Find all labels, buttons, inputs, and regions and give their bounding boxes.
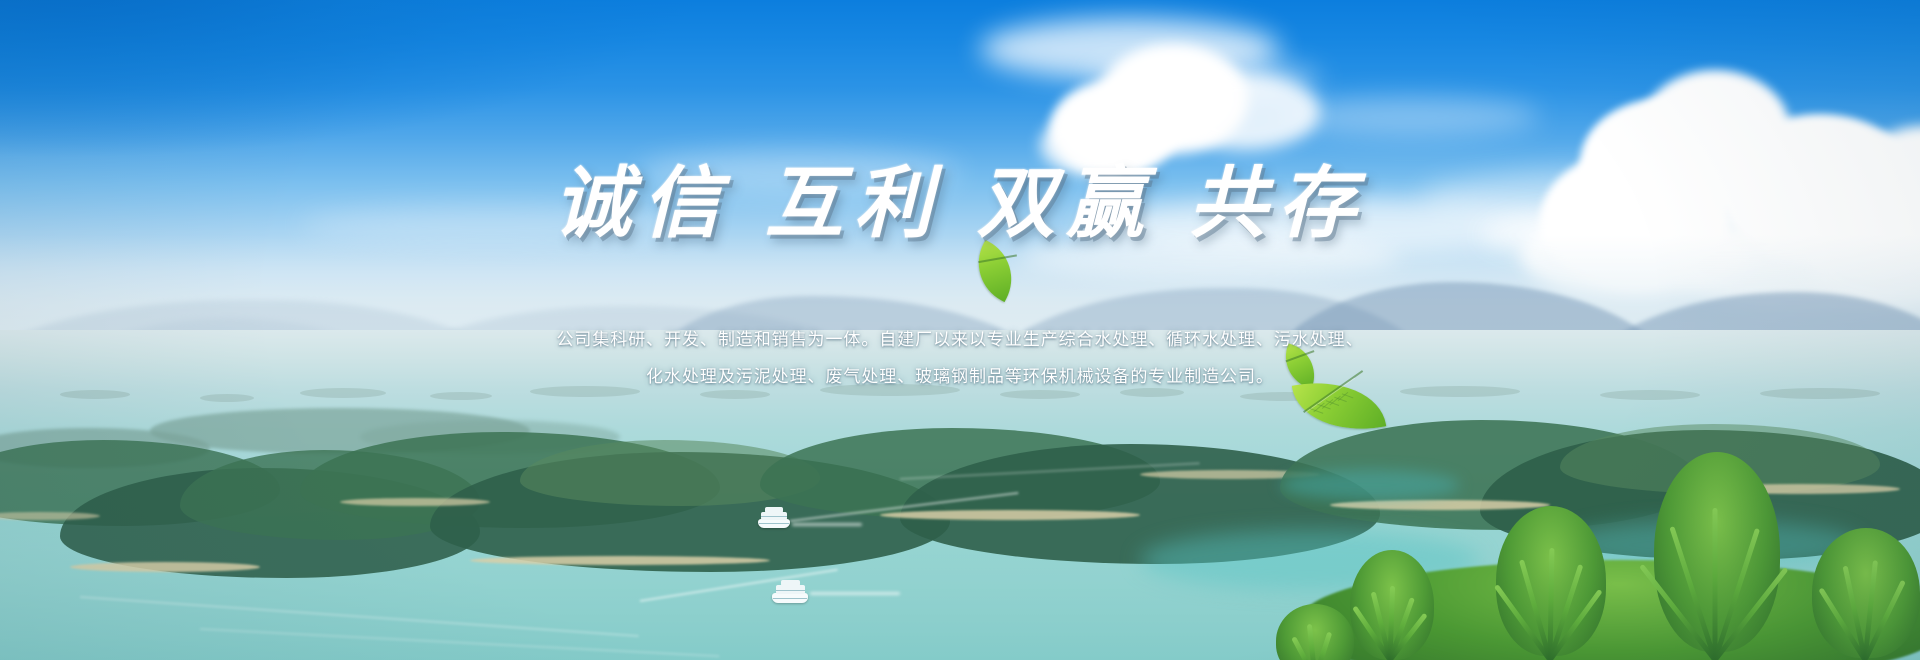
pine-branch-tall [1620, 452, 1810, 660]
island-shoreline [70, 562, 260, 572]
pine-branch [1470, 500, 1630, 660]
headline-word-2: 互利 [765, 160, 943, 247]
boat-deck [781, 580, 800, 586]
islet-distant [1400, 386, 1520, 397]
boat-wake-trail [792, 523, 862, 526]
island-shoreline [470, 556, 770, 565]
islet-distant [1120, 388, 1184, 397]
islet-distant [700, 390, 770, 399]
subtitle-line-2: 化水处理及污泥处理、废气处理、玻璃钢制品等环保机械设备的专业制造公司。 [0, 367, 1920, 387]
islet-distant [1000, 390, 1080, 399]
boat-window-line [773, 598, 807, 599]
pine-branch [1790, 520, 1920, 660]
islet-distant [300, 388, 386, 398]
islet-distant [1600, 390, 1700, 400]
boat-deck [765, 507, 783, 513]
boat-window-line [776, 590, 805, 591]
pine-branch-small [1260, 598, 1370, 660]
islet-distant [430, 392, 492, 400]
boat-window-line [761, 516, 787, 517]
hero-banner: 诚信互利双赢共存 公司集科研、开发、制造和销售为一体。自建厂以来以专业生产综合水… [0, 0, 1920, 660]
headline-word-3: 双赢 [977, 160, 1155, 247]
islet-distant [530, 386, 640, 397]
tour-boat-upper [756, 505, 796, 531]
page-title: 诚信互利双赢共存 [0, 160, 1920, 248]
island-shoreline [340, 498, 490, 506]
headline-word-4: 共存 [1189, 160, 1367, 247]
boat-wake-trail [810, 592, 900, 595]
islet-distant [60, 390, 130, 399]
tour-boat-lower [770, 578, 814, 606]
boat-window-line [759, 523, 789, 524]
islet-distant [200, 394, 254, 402]
water-channel-highlight [1280, 470, 1460, 500]
cloud-puff-left [1040, 28, 1300, 168]
island-shoreline [880, 510, 1140, 520]
islet-distant [1760, 388, 1880, 399]
pine-needle-cluster [1276, 604, 1354, 660]
headline-word-1: 诚信 [553, 160, 731, 247]
subtitle-line-1: 公司集科研、开发、制造和销售为一体。自建厂以来以专业生产综合水处理、循环水处理、… [0, 330, 1920, 350]
